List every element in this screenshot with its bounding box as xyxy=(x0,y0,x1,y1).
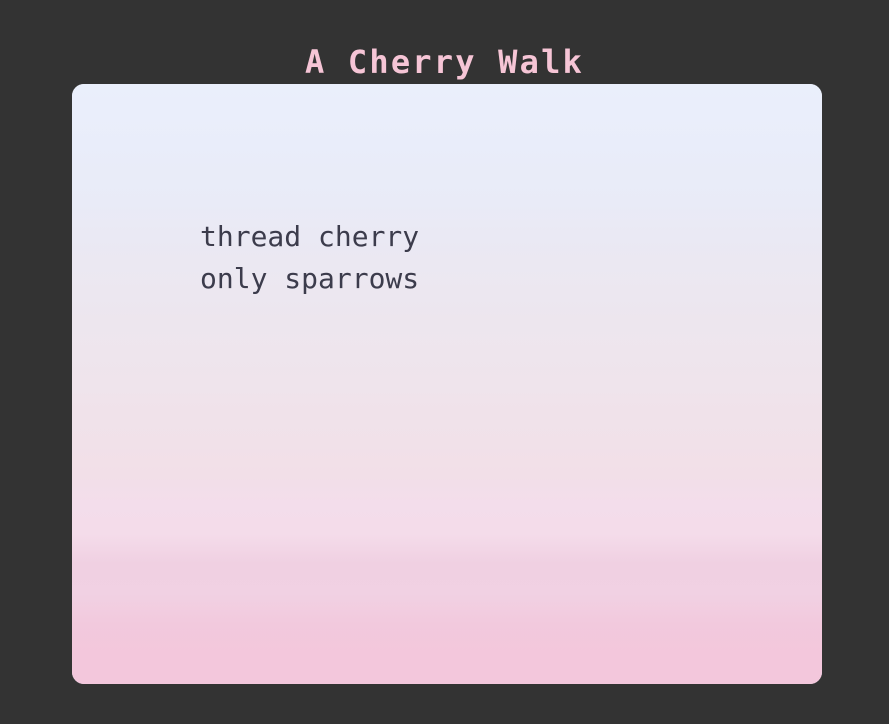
poem-text: thread cherry only sparrows xyxy=(200,216,760,300)
gradient-band xyxy=(72,384,822,414)
gradient-band xyxy=(72,144,822,174)
gradient-background xyxy=(72,84,822,684)
poem-page: A Cherry Walk thread cherry xyxy=(0,0,889,724)
gradient-band xyxy=(72,174,822,204)
gradient-band xyxy=(72,504,822,534)
poem-line: thread cherry xyxy=(200,216,760,258)
gradient-band xyxy=(72,354,822,384)
poem-line: only sparrows xyxy=(200,258,760,300)
gradient-band xyxy=(72,624,822,654)
gradient-band xyxy=(72,414,822,444)
gradient-band xyxy=(72,654,822,684)
gradient-band xyxy=(72,594,822,624)
gradient-band xyxy=(72,444,822,474)
page-title: A Cherry Walk xyxy=(0,39,889,85)
gradient-band xyxy=(72,114,822,144)
gradient-band xyxy=(72,324,822,354)
poem-card: thread cherry only sparrows xyxy=(72,84,822,684)
gradient-band xyxy=(72,534,822,564)
gradient-band xyxy=(72,564,822,594)
gradient-band xyxy=(72,474,822,504)
gradient-band xyxy=(72,84,822,114)
